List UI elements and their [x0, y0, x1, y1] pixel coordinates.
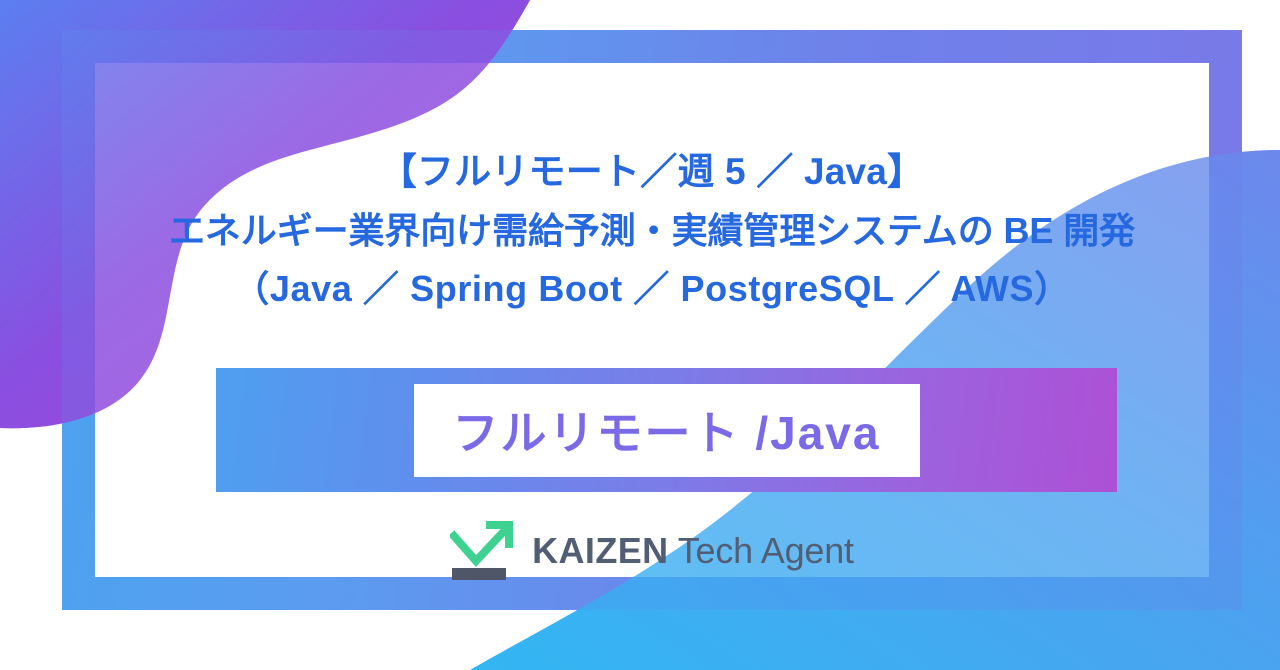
headline-line-3: （Java ／ Spring Boot ／ PostgreSQL ／ AWS）: [92, 260, 1212, 318]
growth-arrow-icon: [450, 520, 516, 582]
tag-badge: フルリモート /Java: [414, 384, 920, 477]
brand-name: KAIZEN: [532, 530, 668, 571]
tag-banner: フルリモート /Java: [216, 368, 1117, 492]
headline-line-2: エネルギー業界向け需給予測・実績管理システムの BE 開発: [92, 202, 1212, 260]
page-title: 【フルリモート／週 5 ／ Java】 エネルギー業界向け需給予測・実績管理シス…: [92, 142, 1212, 319]
poster-canvas: 【フルリモート／週 5 ／ Java】 エネルギー業界向け需給予測・実績管理シス…: [0, 0, 1280, 670]
brand-logo: KAIZEN Tech Agent: [62, 520, 1242, 582]
tag-badge-label: フルリモート /Java: [453, 397, 881, 463]
headline-line-1: 【フルリモート／週 5 ／ Java】: [92, 142, 1212, 202]
brand-logo-text: KAIZEN Tech Agent: [532, 530, 854, 572]
brand-suffix: Tech Agent: [669, 530, 854, 571]
